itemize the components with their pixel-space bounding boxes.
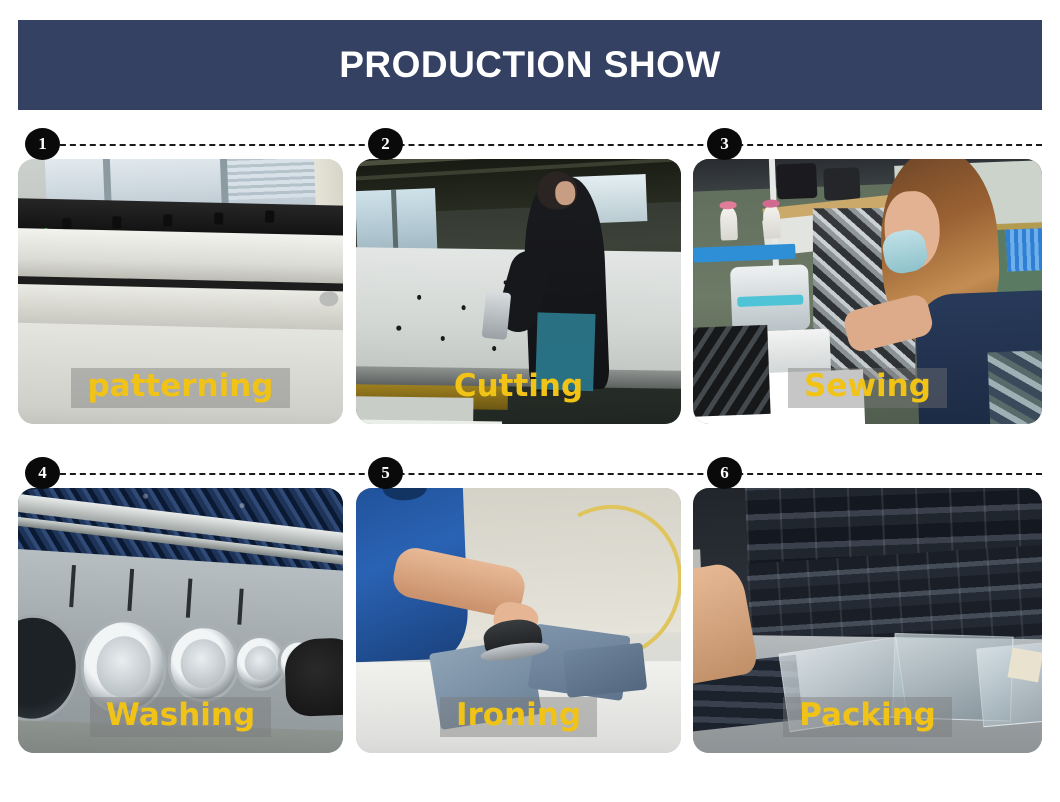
packing-photo: [693, 488, 1042, 753]
step-badge-6: 6: [707, 457, 742, 489]
step-badge-4: 4: [25, 457, 60, 489]
ironing-photo: [356, 488, 681, 753]
process-card-cutting[interactable]: Cutting: [356, 159, 681, 424]
step-badge-2: 2: [368, 128, 403, 160]
patterning-photo: [18, 159, 343, 424]
connector-dashed-line-row-1: [40, 144, 1042, 146]
washing-photo: [18, 488, 343, 753]
step-badge-1: 1: [25, 128, 60, 160]
process-card-packing[interactable]: Packing: [693, 488, 1042, 753]
process-cards-row-2: Washing: [0, 488, 1060, 756]
page-title: PRODUCTION SHOW: [339, 44, 721, 86]
step-badge-5: 5: [368, 457, 403, 489]
step-badge-3: 3: [707, 128, 742, 160]
page-header-banner: PRODUCTION SHOW: [18, 20, 1042, 110]
process-card-washing[interactable]: Washing: [18, 488, 343, 753]
process-card-sewing[interactable]: Sewing: [693, 159, 1042, 424]
process-cards-row-1: patterning: [0, 159, 1060, 427]
process-card-ironing[interactable]: Ironing: [356, 488, 681, 753]
sewing-photo: [693, 159, 1042, 424]
process-card-patterning[interactable]: patterning: [18, 159, 343, 424]
connector-dashed-line-row-2: [40, 473, 1042, 475]
cutting-photo: [356, 159, 681, 424]
